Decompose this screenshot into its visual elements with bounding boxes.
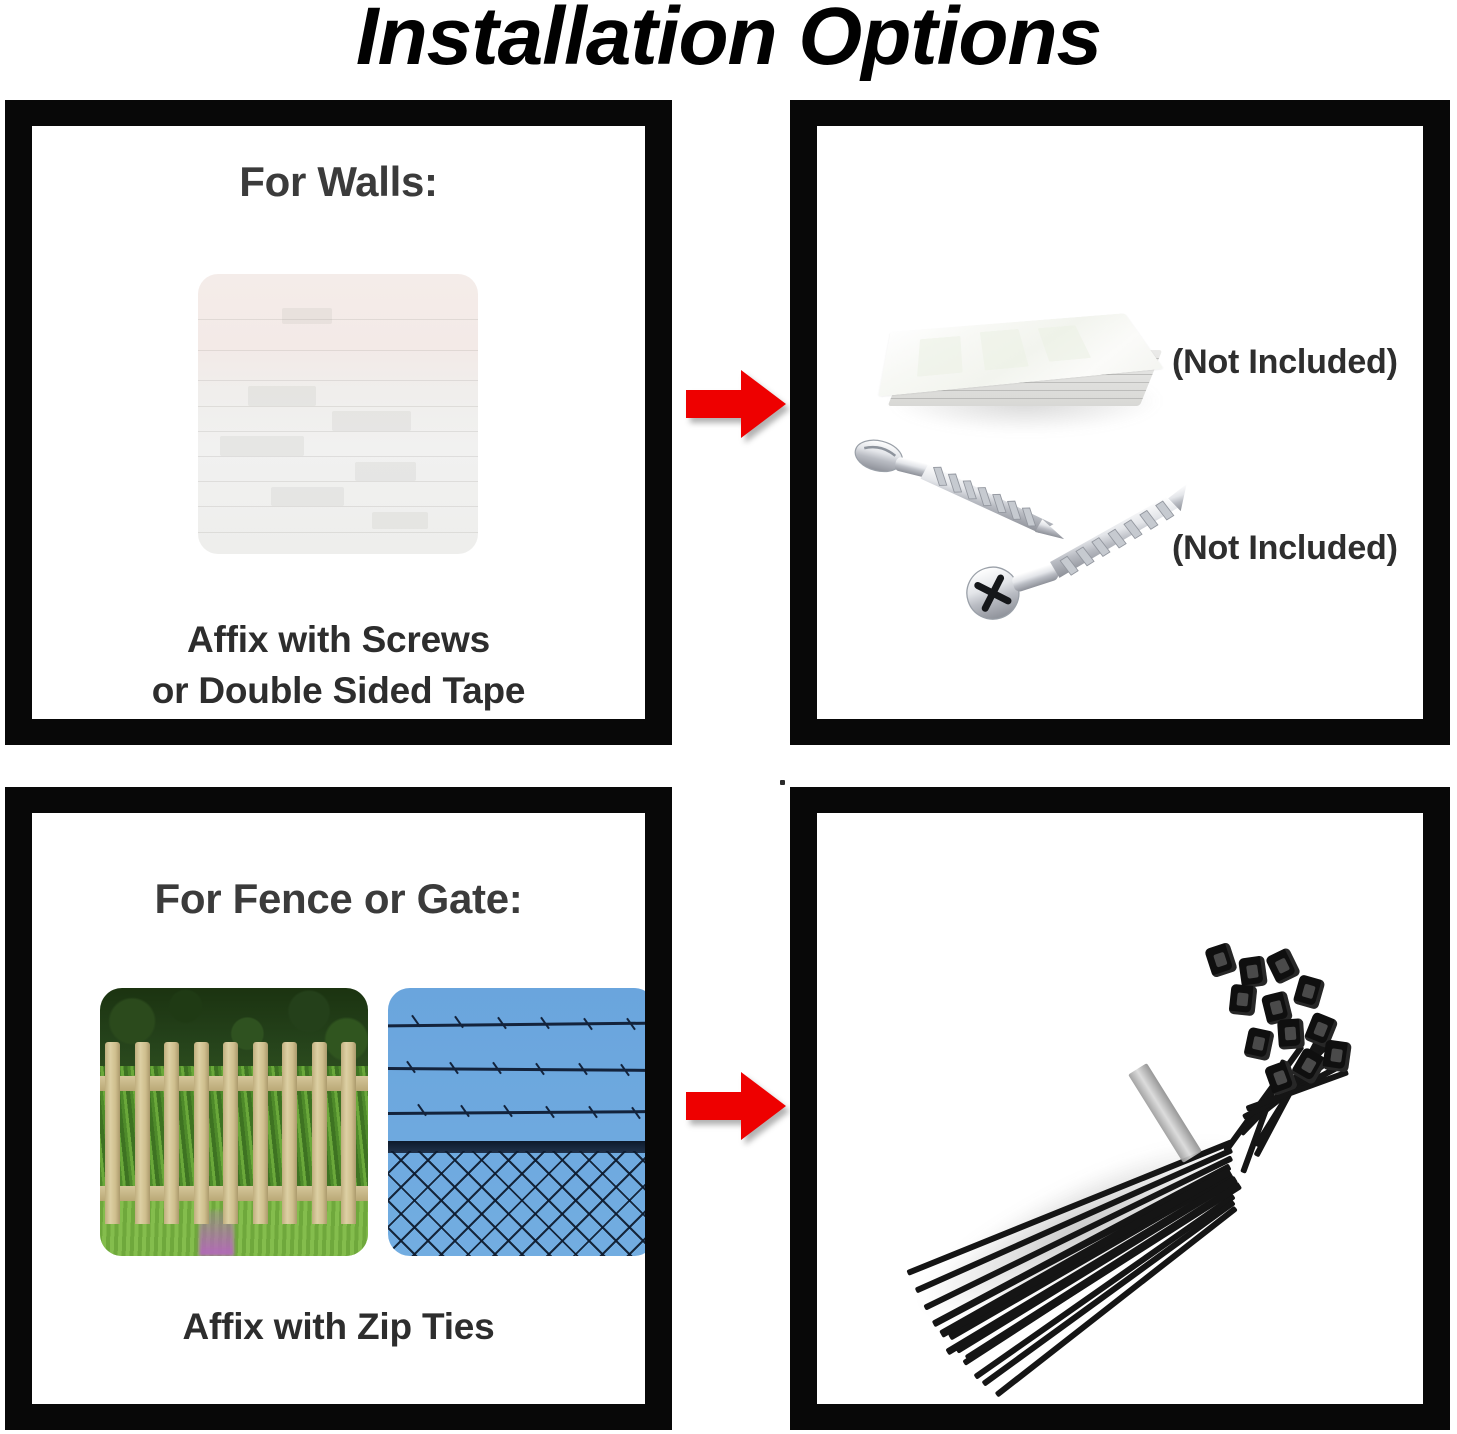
panel-for-walls: For Walls: Affix with Screws or Double S… [5,100,672,745]
screws-not-included-label: (Not Included) [1172,529,1398,568]
double-sided-tape-stack-image [877,258,1177,446]
tape-not-included-label: (Not Included) [1172,343,1398,382]
caption-line-1: Affix with Zip Ties [32,1301,645,1352]
arrow-right-icon-top [686,368,786,440]
caption-for-walls: Affix with Screws or Double Sided Tape [32,614,645,716]
panel-wall-hardware: (Not Included) [790,100,1450,745]
heading-for-walls: For Walls: [32,158,645,206]
heading-for-fence-or-gate: For Fence or Gate: [32,875,645,923]
panel-fence-hardware-content: (Not Included) [817,813,1423,1404]
white-brick-wall-photo [198,274,478,554]
wooden-picket-fence-photo [100,988,368,1256]
page-title: Installation Options [0,0,1457,78]
panel-for-fence-content: For Fence or Gate: [32,813,645,1404]
panel-for-walls-content: For Walls: Affix with Screws or Double S… [32,126,645,719]
barbed-wire-chain-link-fence-photo [388,988,645,1256]
panel-wall-hardware-content: (Not Included) [817,126,1423,719]
black-zip-tie-bundle-image [872,923,1392,1323]
arrow-right-icon-bottom [686,1070,786,1142]
panel-for-fence-or-gate: For Fence or Gate: [5,787,672,1430]
caption-line-1: Affix with Screws [32,614,645,665]
caption-line-2: or Double Sided Tape [32,665,645,716]
panel-fence-hardware: (Not Included) [790,787,1450,1430]
image-artifact-speck [780,780,785,785]
caption-for-fence: Affix with Zip Ties [32,1301,645,1352]
